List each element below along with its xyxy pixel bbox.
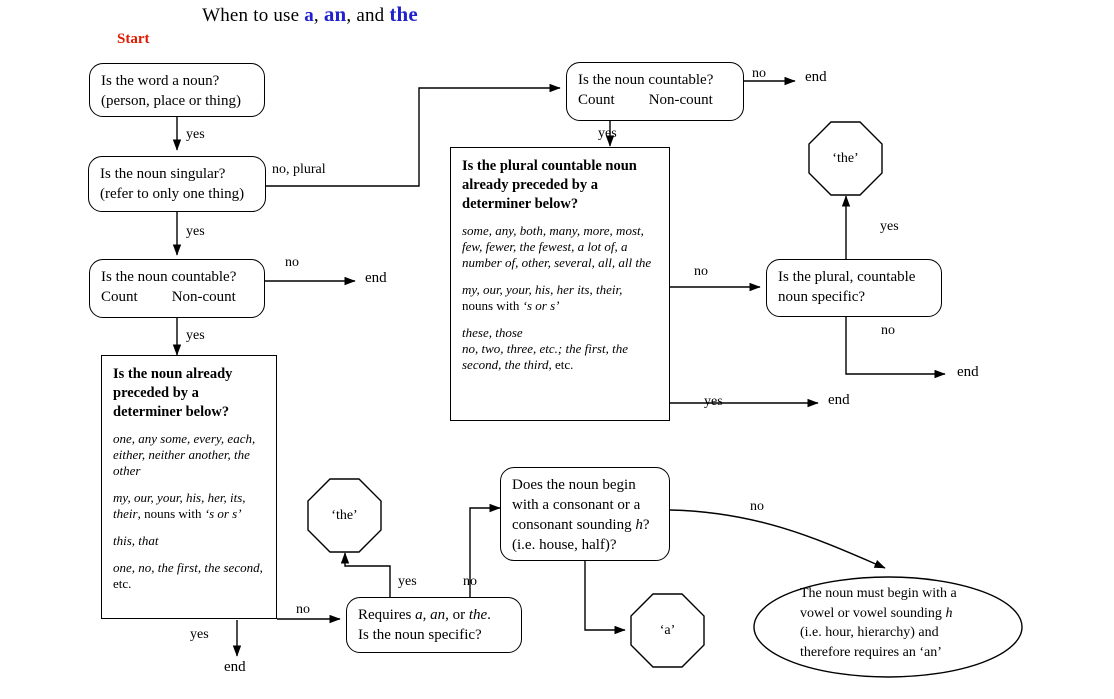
edge-label-no-6: no [296, 602, 310, 617]
determiner-group-2-rest: , nouns with [138, 506, 205, 521]
node-determiner-singular[interactable]: Is the noun already preceded by a determ… [101, 355, 277, 619]
edge-label-yes-6: yes [704, 394, 723, 409]
plural-determiner-group-2-italic: my, our, your, his, her its, their, [462, 282, 622, 297]
node-line: (i.e. house, half)? [512, 535, 659, 555]
node-line: Is the plural, countable [778, 267, 931, 287]
edge-label-yes-5: yes [880, 219, 899, 234]
node-octagon-a[interactable]: ‘a’ [630, 593, 705, 668]
end-label-bottom-left: end [224, 659, 246, 676]
determiner-group-3: this, that [113, 533, 265, 549]
node-line: consonant sounding h? [512, 515, 659, 535]
node-line: Requires a, an, or the. [358, 605, 511, 625]
h-italic: h [635, 517, 643, 533]
requires-period: . [487, 607, 491, 623]
node-requires-a-an-the[interactable]: Requires a, an, or the. Is the noun spec… [346, 597, 522, 653]
determiner-group-2: my, our, your, his, her, its, their, nou… [113, 490, 265, 522]
flowchart-canvas: When to use a, an, and the Start Is the … [0, 0, 1114, 699]
edge-label-no-3: no [694, 264, 708, 279]
determiner-group-4-rest: etc. [113, 576, 131, 591]
consonant-qmark: ? [643, 517, 650, 533]
count-label: Count [578, 92, 615, 108]
noncount-label: Non-count [649, 92, 713, 108]
title-sep-1: , [314, 5, 324, 26]
node-heading: Is the plural countable noun already pre… [462, 157, 658, 214]
octagon-label: ‘a’ [630, 593, 705, 668]
node-line: Is the noun countable? [578, 70, 733, 90]
node-line: (i.e. hour, hierarchy) and [800, 623, 1020, 643]
edge-label-no-5: no [463, 574, 477, 589]
title-keyword-a: a [304, 5, 314, 26]
determiner-group-2-suffix: ‘s or s’ [205, 506, 242, 521]
node-line: noun specific? [778, 287, 931, 307]
requires-the: the [469, 607, 487, 623]
plural-determiner-group-3c: etc. [552, 357, 574, 372]
node-is-the-noun-countable-left[interactable]: Is the noun countable? CountNon-count [89, 259, 265, 318]
edge-label-yes-2: yes [186, 224, 205, 239]
determiner-group-1: one, any some, every, each, either, neit… [113, 431, 265, 479]
end-label-right-mid: end [957, 364, 979, 381]
end-label-center: end [828, 392, 850, 409]
noncount-label: Non-count [172, 289, 236, 305]
plural-determiner-group-3: these, thoseno, two, three, etc.; the fi… [462, 325, 658, 373]
determiner-group-4: one, no, the first, the second,etc. [113, 560, 265, 592]
node-octagon-the-lower[interactable]: ‘the’ [307, 478, 382, 553]
plural-determiner-group-2-suffix: ‘s or s’ [523, 298, 560, 313]
edge-label-no-plural: no, plural [272, 162, 326, 177]
requires-an: an [430, 607, 445, 623]
plural-determiner-group-3a: these, those [462, 325, 523, 340]
end-label-left: end [365, 270, 387, 287]
title-keyword-the: the [389, 2, 418, 26]
octagon-label: ‘the’ [808, 121, 883, 196]
node-is-the-noun-countable-top[interactable]: Is the noun countable? CountNon-count [566, 62, 744, 121]
requires-sep1: , [423, 607, 431, 623]
node-line: with a consonant or a [512, 495, 659, 515]
title-keyword-an: an [324, 2, 347, 26]
edge-label-yes-3: yes [186, 328, 205, 343]
page-title: When to use a, an, and the [0, 2, 620, 27]
edge-label-yes-7: yes [398, 574, 417, 589]
node-line: therefore requires an ‘an’ [800, 643, 1020, 663]
node-determiner-plural[interactable]: Is the plural countable noun already pre… [450, 147, 670, 421]
node-is-the-word-a-noun[interactable]: Is the word a noun? (person, place or th… [89, 63, 265, 117]
node-line: Is the word a noun? [101, 71, 254, 91]
node-is-the-noun-singular[interactable]: Is the noun singular? (refer to only one… [88, 156, 266, 212]
node-line: Is the noun countable? [101, 267, 254, 287]
node-is-plural-countable-noun-specific[interactable]: Is the plural, countable noun specific? [766, 259, 942, 317]
node-line: (refer to only one thing) [100, 184, 255, 204]
title-prefix: When to use [202, 5, 304, 26]
node-line: CountNon-count [578, 90, 733, 110]
edge-label-no-2: no [752, 66, 766, 81]
edge-label-no-7: no [750, 499, 764, 514]
determiner-group-4-italic: one, no, the first, the second, [113, 560, 263, 575]
count-label: Count [101, 289, 138, 305]
edge-label-yes-1: yes [186, 127, 205, 142]
ellipse-text: The noun must begin with a vowel or vowe… [800, 584, 1020, 662]
node-does-noun-begin-consonant[interactable]: Does the noun begin with a consonant or … [500, 467, 670, 561]
node-heading: Is the noun already preceded by a determ… [113, 365, 265, 422]
node-line: Is the noun specific? [358, 625, 511, 645]
plural-determiner-group-2: my, our, your, his, her its, their,nouns… [462, 282, 658, 314]
node-vowel-requires-an[interactable]: The noun must begin with a vowel or vowe… [752, 562, 1024, 692]
requires-sep2: , or [445, 607, 469, 623]
edge-label-no-4: no [881, 323, 895, 338]
start-label: Start [117, 31, 150, 48]
edge-label-yes-8: yes [190, 627, 209, 642]
title-sep-2: , and [346, 5, 389, 26]
node-line: The noun must begin with a [800, 584, 1020, 604]
h-italic: h [945, 606, 952, 621]
edge-label-yes-4: yes [598, 126, 617, 141]
consonant-text: consonant sounding [512, 517, 635, 533]
node-line: Does the noun begin [512, 475, 659, 495]
plural-determiner-group-1: some, any, both, many, more, most, few, … [462, 223, 658, 271]
end-label-top: end [805, 69, 827, 86]
octagon-label: ‘the’ [307, 478, 382, 553]
requires-prefix: Requires [358, 607, 415, 623]
plural-determiner-group-3b: no, two, three, etc.; the first, the sec… [462, 341, 628, 372]
node-line: vowel or vowel sounding h [800, 604, 1020, 624]
node-line: CountNon-count [101, 287, 254, 307]
node-line: Is the noun singular? [100, 164, 255, 184]
edge-label-no-1: no [285, 255, 299, 270]
node-octagon-the-upper[interactable]: ‘the’ [808, 121, 883, 196]
vowel-text: vowel or vowel sounding [800, 606, 945, 621]
requires-a: a [415, 607, 423, 623]
plural-determiner-group-2-rest: nouns with [462, 298, 523, 313]
node-line: (person, place or thing) [101, 91, 254, 111]
